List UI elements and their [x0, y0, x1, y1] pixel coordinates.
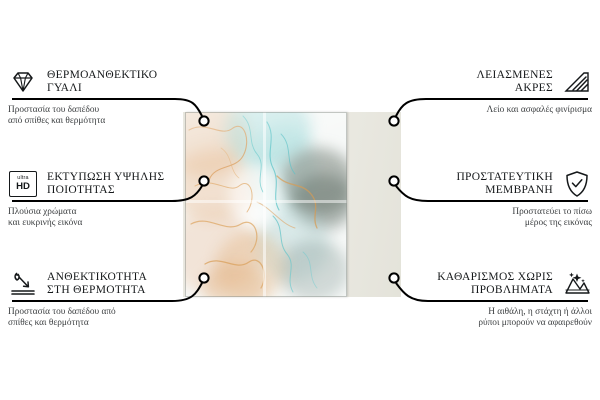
hd-label: HD — [16, 182, 30, 192]
feature-title: ΕΚΤΥΠΩΣΗ ΥΨΗΛΗΣ ΠΟΙΟΤΗΤΑΣ — [47, 171, 164, 198]
polished-edges-icon — [562, 67, 592, 97]
feature-description: Η αιθάλη, η στάχτη ή άλλοι ρύποι μπορούν… — [402, 307, 592, 330]
feature-heat-resistant-glass: ΘΕΡΜΟΑΝΘΕΚΤΙΚΟ ΓΥΑΛΙ Προστασία του δαπέδ… — [8, 66, 198, 128]
feature-header: ΚΑΘΑΡΙΣΜΟΣ ΧΩΡΙΣ ΠΡΟΒΛΗΜΑΤΑ — [402, 268, 592, 300]
feature-title: ΠΡΟΣΤΑΤΕΥΤΙΚΗ ΜΕΜΒΡΑΝΗ — [456, 171, 553, 198]
feature-title: ΘΕΡΜΟΑΝΘΕΚΤΙΚΟ ΓΥΑΛΙ — [47, 69, 157, 96]
feature-header: ΑΝΘΕΚΤΙΚΟΤΗΤΑ ΣΤΗ ΘΕΡΜΟΤΗΤΑ — [8, 268, 198, 300]
glass-panel-artwork — [185, 112, 347, 297]
feature-title: ΛΕΙΑΣΜΕΝΕΣ ΑΚΡΕΣ — [477, 69, 553, 96]
glass-reflection-vertical — [263, 112, 266, 297]
feature-title: ΚΑΘΑΡΙΣΜΟΣ ΧΩΡΙΣ ΠΡΟΒΛΗΜΑΤΑ — [437, 271, 553, 298]
shield-check-icon — [562, 169, 592, 199]
feature-easy-cleaning: ΚΑΘΑΡΙΣΜΟΣ ΧΩΡΙΣ ΠΡΟΒΛΗΜΑΤΑ Η αιθάλη, η … — [402, 268, 592, 330]
infographic-page: ΘΕΡΜΟΑΝΘΕΚΤΙΚΟ ΓΥΑΛΙ Προστασία του δαπέδ… — [0, 0, 600, 400]
feature-heat-durability: ΑΝΘΕΚΤΙΚΟΤΗΤΑ ΣΤΗ ΘΕΡΜΟΤΗΤΑ Προστασία το… — [8, 268, 198, 330]
feature-header: ΘΕΡΜΟΑΝΘΕΚΤΙΚΟ ΓΥΑΛΙ — [8, 66, 198, 98]
feature-polished-edges: ΛΕΙΑΣΜΕΝΕΣ ΑΚΡΕΣ Λείο και ασφαλές φινίρι… — [402, 66, 592, 116]
ink-veins — [185, 112, 347, 297]
ultra-hd-badge-icon: ultra HD — [8, 169, 38, 199]
product-image — [183, 112, 401, 297]
feature-high-quality-print: ultra HD ΕΚΤΥΠΩΣΗ ΥΨΗΛΗΣ ΠΟΙΟΤΗΤΑΣ Πλούσ… — [8, 168, 198, 230]
feature-header: ΛΕΙΑΣΜΕΝΕΣ ΑΚΡΕΣ — [402, 66, 592, 98]
feature-protective-membrane: ΠΡΟΣΤΑΤΕΥΤΙΚΗ ΜΕΜΒΡΑΝΗ Προστατεύει το πί… — [402, 168, 592, 230]
feature-title: ΑΝΘΕΚΤΙΚΟΤΗΤΑ ΣΤΗ ΘΕΡΜΟΤΗΤΑ — [47, 271, 147, 298]
glass-reflection-horizontal — [185, 200, 347, 203]
feature-header: ultra HD ΕΚΤΥΠΩΣΗ ΥΨΗΛΗΣ ΠΟΙΟΤΗΤΑΣ — [8, 168, 198, 200]
sparkle-clean-icon — [562, 269, 592, 299]
feature-description: Προστατεύει το πίσω μέρος της εικόνας — [402, 207, 592, 230]
feature-description: Λείο και ασφαλές φινίρισμα — [402, 105, 592, 116]
feature-description: Πλούσια χρώματα και ευκρινής εικόνα — [8, 207, 198, 230]
feature-description: Προστασία του δαπέδου από σπίθες και θερ… — [8, 105, 198, 128]
feature-description: Προστασία του δαπέδου από σπίθες και θερ… — [8, 307, 198, 330]
diamond-icon — [8, 67, 38, 97]
flame-heat-resistance-icon — [8, 269, 38, 299]
feature-header: ΠΡΟΣΤΑΤΕΥΤΙΚΗ ΜΕΜΒΡΑΝΗ — [402, 168, 592, 200]
